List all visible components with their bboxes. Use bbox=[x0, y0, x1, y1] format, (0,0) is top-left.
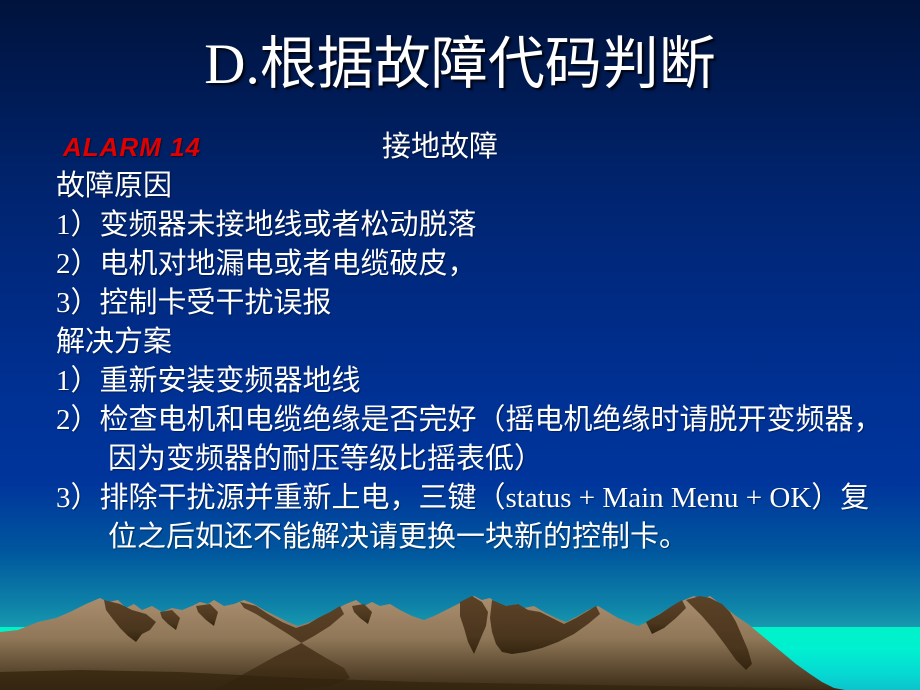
cause-item-2: 2）电机对地漏电或者电缆破皮， bbox=[56, 245, 896, 284]
slide-body: ALARM 14 接地故障 故障原因 1）变频器未接地线或者松动脱落 2）电机对… bbox=[56, 128, 896, 557]
mountain-svg bbox=[0, 560, 920, 690]
cause-item-3: 3）控制卡受干扰误报 bbox=[56, 284, 896, 323]
alarm-name: 接地故障 bbox=[382, 128, 498, 167]
cause-item-1: 1）变频器未接地线或者松动脱落 bbox=[56, 206, 896, 245]
section-heading-solution: 解决方案 bbox=[56, 323, 896, 362]
alarm-row: ALARM 14 接地故障 bbox=[56, 128, 896, 167]
page-title: D.根据故障代码判断 bbox=[0, 30, 920, 100]
alarm-code: ALARM 14 bbox=[63, 128, 201, 167]
mountain-range-icon bbox=[0, 560, 920, 690]
solution-item-3: 3）排除干扰源并重新上电，三键（status + Main Menu + OK）… bbox=[56, 479, 896, 557]
solution-item-2: 2）检查电机和电缆绝缘是否完好（摇电机绝缘时请脱开变频器，因为变频器的耐压等级比… bbox=[56, 401, 896, 479]
solution-item-1: 1）重新安装变频器地线 bbox=[56, 362, 896, 401]
section-heading-cause: 故障原因 bbox=[56, 167, 896, 206]
presentation-slide: D.根据故障代码判断 ALARM 14 接地故障 故障原因 1）变频器未接地线或… bbox=[0, 0, 920, 690]
